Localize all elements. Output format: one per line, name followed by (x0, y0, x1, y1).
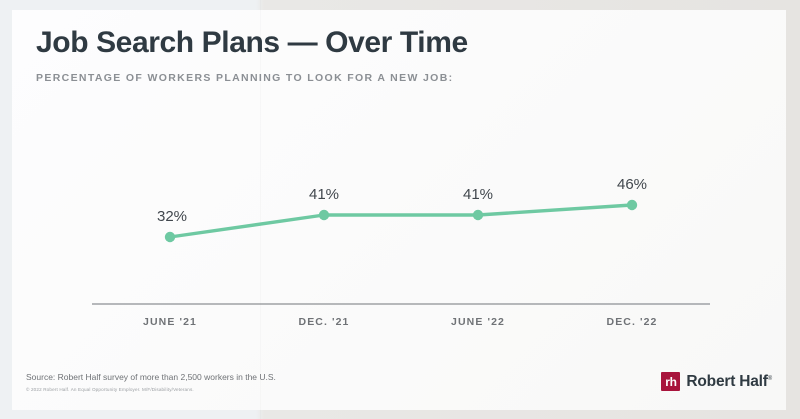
chart-header: Job Search Plans — Over Time PERCENTAGE … (36, 26, 736, 84)
page-title: Job Search Plans — Over Time (36, 26, 736, 59)
page-subtitle: PERCENTAGE OF WORKERS PLANNING TO LOOK F… (36, 72, 736, 84)
logo-wordmark: Robert Half® (686, 373, 772, 391)
logo-wordmark-text: Robert Half (686, 373, 767, 390)
legal-note: © 2022 Robert Half. An Equal Opportunity… (26, 387, 194, 392)
logo-mark-text: rh (665, 376, 676, 388)
robert-half-logo[interactable]: rh Robert Half® (661, 372, 772, 391)
registered-trademark-symbol: ® (768, 375, 772, 381)
infographic-frame: Job Search Plans — Over Time PERCENTAGE … (0, 0, 800, 419)
robert-half-logo-mark-icon: rh (661, 372, 680, 391)
source-note: Source: Robert Half survey of more than … (26, 372, 276, 382)
